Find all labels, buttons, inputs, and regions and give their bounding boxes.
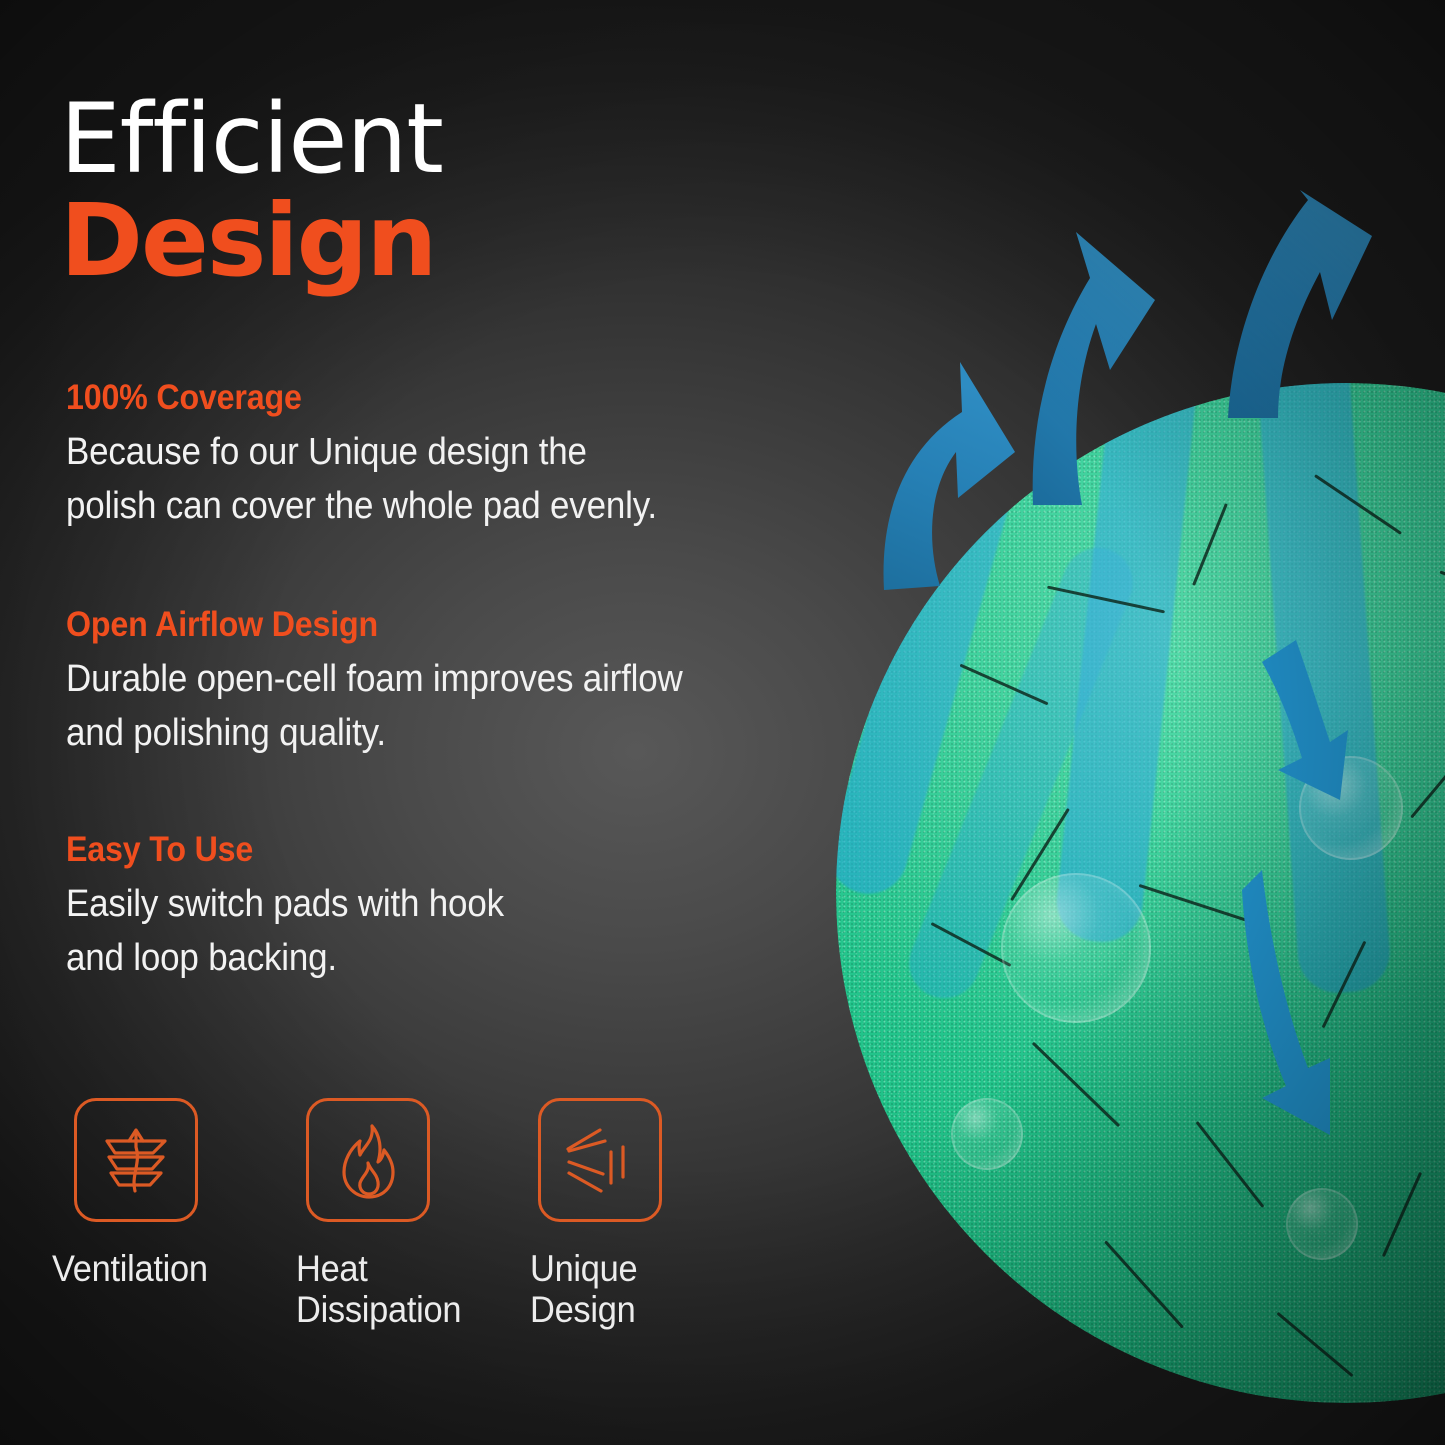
flame-icon [330,1119,406,1201]
page-title: Efficient Design [60,92,443,290]
feature-body-airflow: Durable open-cell foam improves airflow … [66,653,857,761]
feature-body-coverage: Because fo our Unique design the polish … [66,426,857,534]
feature-block-easy-to-use: Easy To Use Easily switch pads with hook… [66,830,926,986]
feature-badge-unique-design: Unique Design [524,1098,756,1331]
feature-block-coverage: 100% Coverage Because fo our Unique desi… [66,378,926,534]
feature-badge-heat-dissipation: Heat Dissipation [292,1098,524,1331]
feature-body-easy-to-use: Easily switch pads with hook and loop ba… [66,878,857,986]
feature-badge-row: Ventilation Heat Dissipation [60,1098,756,1331]
heat-dissipation-badge-box [306,1098,430,1222]
ventilation-louver-arrow-icon [95,1119,177,1201]
feature-heading-coverage: 100% Coverage [66,378,857,418]
feature-block-airflow: Open Airflow Design Durable open-cell fo… [66,605,926,761]
badge-caption-ventilation: Ventilation [52,1248,208,1289]
badge-caption-unique-design: Unique Design [530,1248,637,1331]
diagonal-strokes-icon [560,1121,640,1199]
ventilation-badge-box [74,1098,198,1222]
infographic-canvas: Efficient Design 100% Coverage Because f… [0,0,1445,1445]
feature-heading-easy-to-use: Easy To Use [66,830,857,870]
title-line-efficient: Efficient [60,92,443,186]
badge-caption-heat-dissipation: Heat Dissipation [296,1248,461,1331]
title-line-design: Design [60,192,443,290]
unique-design-badge-box [538,1098,662,1222]
content-layer: Efficient Design 100% Coverage Because f… [0,0,1445,1445]
feature-heading-airflow: Open Airflow Design [66,605,857,645]
feature-badge-ventilation: Ventilation [60,1098,292,1331]
